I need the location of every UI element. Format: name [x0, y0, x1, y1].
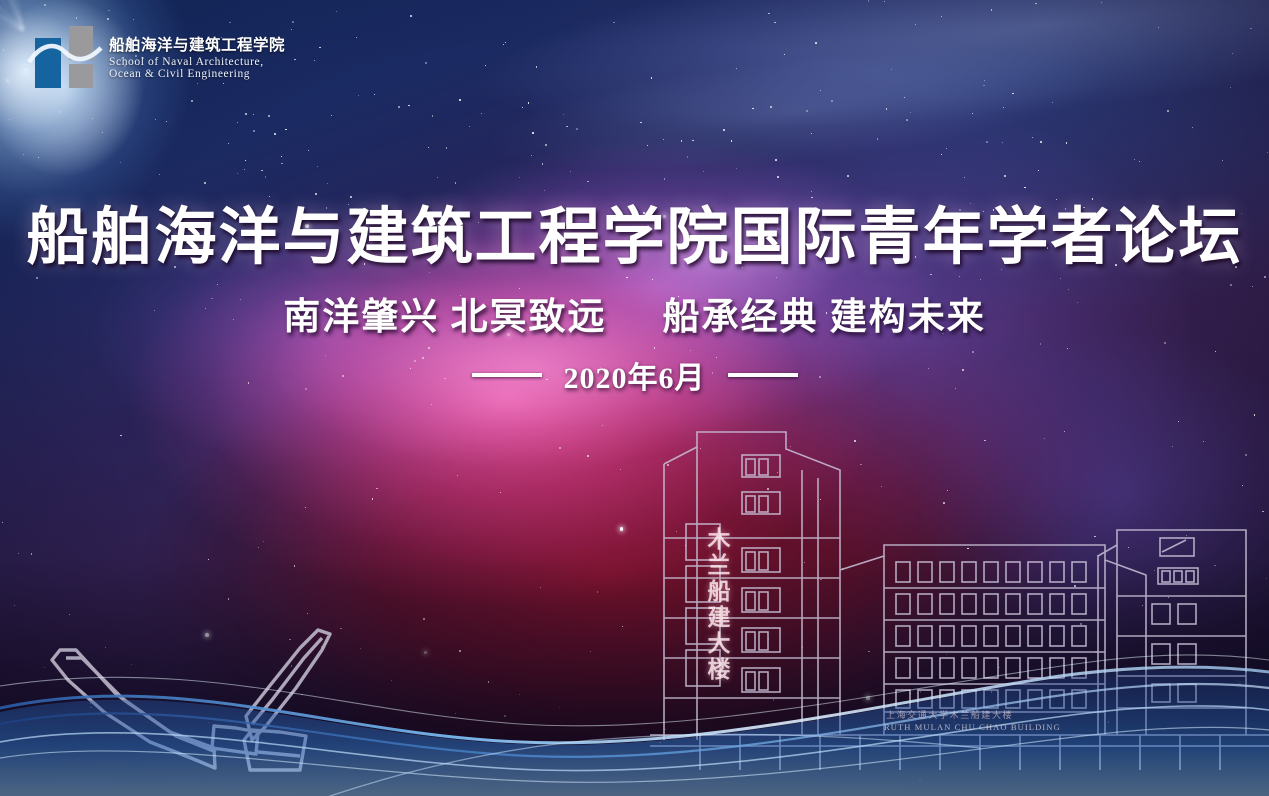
- school-name-cn: 船舶海洋与建筑工程学院: [109, 38, 285, 54]
- logo-wave-icon: [31, 40, 99, 74]
- school-logo-text: 船舶海洋与建筑工程学院 School of Naval Architecture…: [109, 38, 285, 80]
- school-name-en: School of Naval Architecture, Ocean & Ci…: [109, 56, 285, 80]
- waves-svg: [0, 616, 1269, 796]
- poster-date: 2020年6月: [564, 353, 706, 397]
- building-vertical-label: 木兰船建大楼: [692, 527, 732, 683]
- poster-subtitle: 南洋肇兴 北冥致远 船承经典 建构未来: [0, 286, 1269, 340]
- subtitle-right: 船承经典 建构未来: [663, 286, 986, 340]
- school-logo: 船舶海洋与建筑工程学院 School of Naval Architecture…: [33, 26, 285, 92]
- date-rule-right: [728, 373, 798, 377]
- poster-title: 船舶海洋与建筑工程学院国际青年学者论坛: [0, 186, 1269, 276]
- poster-date-row: 2020年6月: [0, 353, 1269, 397]
- school-logo-mark: [33, 26, 99, 92]
- date-rule-left: [472, 373, 542, 377]
- school-name-en-line1: School of Naval Architecture,: [109, 56, 285, 68]
- school-name-en-line2: Ocean & Civil Engineering: [109, 68, 285, 80]
- building-caption-en: RUTH MULAN CHU CHAO BUILDING: [884, 722, 1061, 732]
- building-caption-cn: 上海交通大学木兰船建大楼: [886, 708, 1013, 721]
- subtitle-left: 南洋肇兴 北冥致远: [283, 286, 606, 340]
- bottom-light-waves: [0, 616, 1269, 796]
- poster-canvas: 木兰船建大楼 上海交通大学木兰船建大楼 RUTH MULAN CHU CHAO …: [0, 0, 1269, 796]
